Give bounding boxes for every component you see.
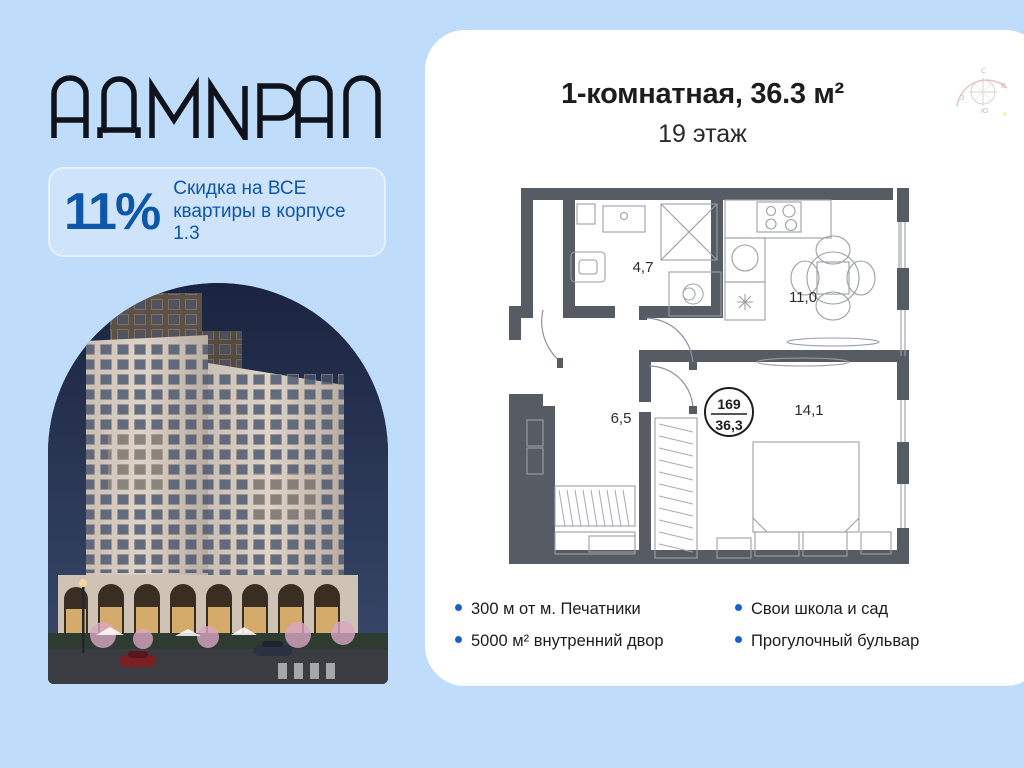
compass-north-label: С [981, 68, 986, 75]
floor-subtitle: 19 этаж [425, 120, 980, 149]
plan-title-block: 1-комнатная, 36.3 м² 19 этаж [425, 78, 980, 149]
features-list: 300 м от м. Печатники Свои школа и сад 5… [455, 600, 1015, 651]
feature-label: 300 м от м. Печатники [471, 600, 641, 619]
feature-label: 5000 м² внутренний двор [471, 632, 664, 651]
apartment-number: 169 [717, 396, 741, 412]
list-item: Свои школа и сад [735, 600, 985, 619]
bullet-icon [455, 604, 462, 611]
discount-description: Скидка на ВСЕ квартиры в корпусе 1.3 [173, 178, 370, 245]
apartment-badge: 169 36,3 [705, 388, 753, 436]
feature-label: Прогулочный бульвар [751, 632, 919, 651]
bullet-icon [735, 604, 742, 611]
compass-west-label: З [960, 95, 964, 102]
list-item: Прогулочный бульвар [735, 632, 985, 651]
floorplan-card: 1-комнатная, 36.3 м² 19 этаж С В Ю З [425, 30, 1024, 686]
room-area-bedroom: 14,1 [794, 402, 823, 419]
discount-badge: 11% Скидка на ВСЕ квартиры в корпусе 1.3 [48, 167, 386, 257]
building-exterior-photo [48, 283, 388, 684]
compass-south-label: Ю [981, 108, 988, 115]
floorplan-drawing: 4,7 11,0 6,5 14,1 169 36,3 [503, 180, 963, 570]
brand-logo [48, 72, 388, 140]
page-title: 1-комнатная, 36.3 м² [425, 78, 980, 111]
apartment-area: 36,3 [715, 417, 742, 433]
compass-rose-icon: С В Ю З [943, 62, 1018, 132]
room-area-kitchen: 11,0 [789, 289, 817, 306]
left-promo-panel: 11% Скидка на ВСЕ квартиры в корпусе 1.3 [0, 0, 420, 768]
bullet-icon [735, 636, 742, 643]
feature-label: Свои школа и сад [751, 600, 888, 619]
bullet-icon [455, 636, 462, 643]
room-area-bathroom: 4,7 [633, 259, 654, 276]
list-item: 5000 м² внутренний двор [455, 632, 735, 651]
list-item: 300 м от м. Печатники [455, 600, 735, 619]
compass-east-label: В [1001, 83, 1006, 90]
room-area-hallway: 6,5 [611, 410, 632, 427]
discount-percent: 11% [64, 186, 159, 238]
